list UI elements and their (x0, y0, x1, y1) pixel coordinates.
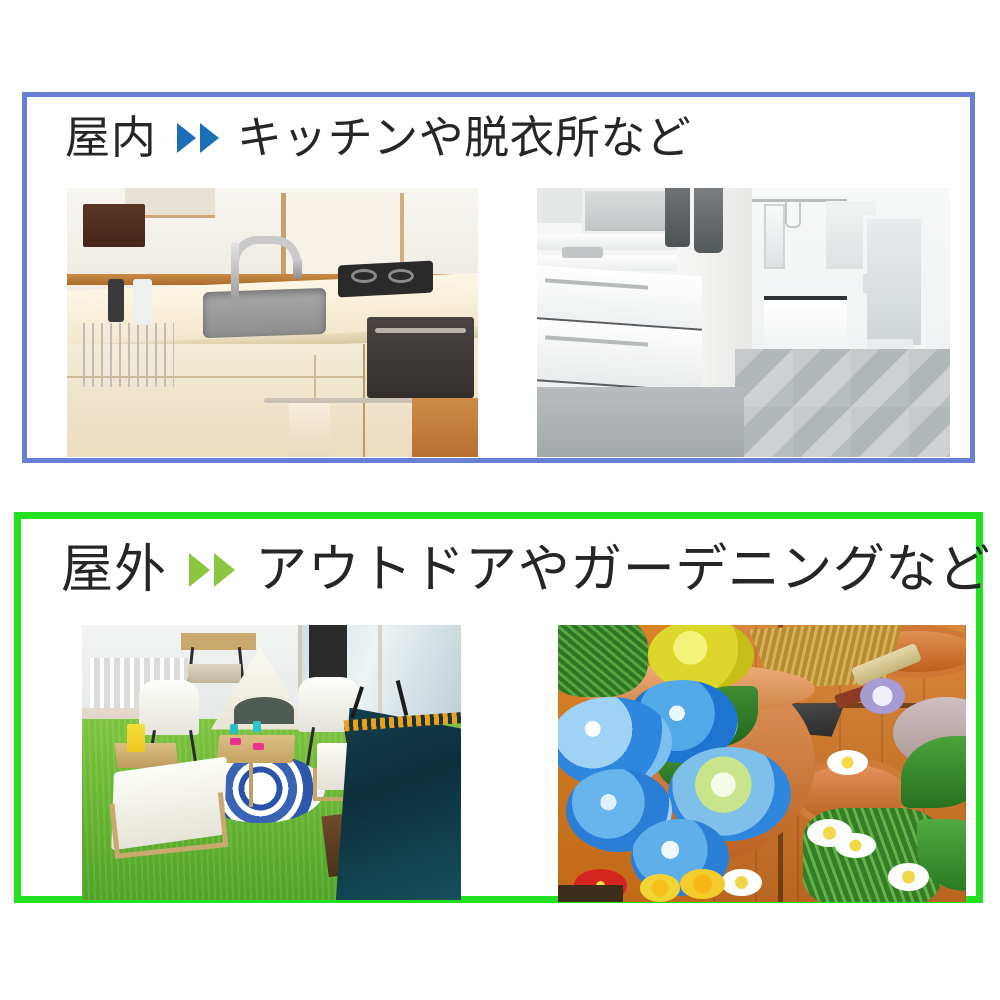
garden-foliage (558, 625, 648, 697)
laundry-door-handle (863, 274, 869, 293)
garden-marigold (640, 874, 681, 902)
garden-allium-flower (860, 678, 905, 714)
laundry-mirror (582, 188, 673, 234)
kitchen-soap-dispenser (108, 279, 124, 322)
photo-balcony-outdoor (82, 625, 461, 900)
photo-gardening (558, 625, 966, 902)
balcony-hammock (336, 708, 461, 901)
balcony-cup (253, 721, 261, 732)
indoor-section: 屋内 キッチンや脱衣所など (22, 92, 975, 463)
balcony-cup (253, 743, 264, 750)
garden-daisy (827, 750, 868, 775)
indoor-heading-label: 屋内 (65, 113, 157, 163)
laundry-window (764, 204, 785, 269)
laundry-frosted-door (863, 215, 925, 350)
laundry-hanging-towel (694, 188, 723, 253)
laundry-vanity-drawer (537, 319, 702, 392)
balcony-tent-opening (234, 697, 295, 725)
garden-daisy (888, 863, 929, 891)
product-feature-graphic: 屋内 キッチンや脱衣所など (0, 0, 1000, 1000)
garden-daisy (835, 833, 876, 858)
laundry-mirror (537, 188, 582, 223)
kitchen-burner (351, 269, 377, 283)
kitchen-towel (289, 403, 330, 457)
laundry-clothes-hanger (785, 201, 801, 228)
balcony-table-leg (249, 760, 253, 807)
photo-kitchen (67, 188, 478, 457)
arrow-right-icon (200, 123, 219, 153)
kitchen-burner (388, 269, 414, 283)
photo-laundry-room (537, 188, 950, 457)
garden-soil (558, 885, 623, 902)
kitchen-appliance-handle (375, 328, 465, 333)
arrow-right-icon (177, 123, 196, 153)
double-right-arrow-icon (177, 123, 219, 153)
outdoor-heading: 屋外 アウトドアやガーデニングなど (61, 541, 990, 599)
indoor-heading: 屋内 キッチンや脱衣所など (65, 113, 691, 163)
balcony-cup (230, 738, 241, 745)
outdoor-section: 屋外 アウトドアやガーデニングなど (14, 512, 983, 903)
kitchen-floor (412, 398, 478, 457)
laundry-floor-mat (867, 339, 912, 350)
kitchen-sink (203, 288, 326, 338)
kitchen-canister (83, 204, 145, 247)
outdoor-heading-description: アウトドアやガーデニングなど (255, 541, 990, 599)
balcony-drink-jug (127, 724, 145, 752)
balcony-folding-chair (139, 680, 200, 735)
kitchen-faucet-spout (293, 258, 302, 280)
balcony-cup (230, 724, 238, 734)
double-right-arrow-icon (189, 553, 235, 587)
laundry-marble-floor (735, 349, 950, 457)
laundry-floor-foreground (537, 387, 744, 457)
arrow-right-icon (214, 553, 235, 587)
laundry-shelf (537, 234, 677, 250)
kitchen-faucet-neck (231, 242, 239, 301)
laundry-faucet (562, 247, 603, 258)
balcony-swing-seat (188, 664, 241, 683)
kitchen-towel-bar (264, 398, 428, 403)
indoor-heading-description: キッチンや脱衣所など (237, 113, 692, 163)
arrow-right-icon (189, 553, 210, 587)
kitchen-dish-rack (83, 323, 173, 388)
kitchen-spray-bottle (133, 279, 152, 325)
laundry-hanging-towel (665, 188, 690, 247)
outdoor-heading-label: 屋外 (61, 541, 167, 599)
